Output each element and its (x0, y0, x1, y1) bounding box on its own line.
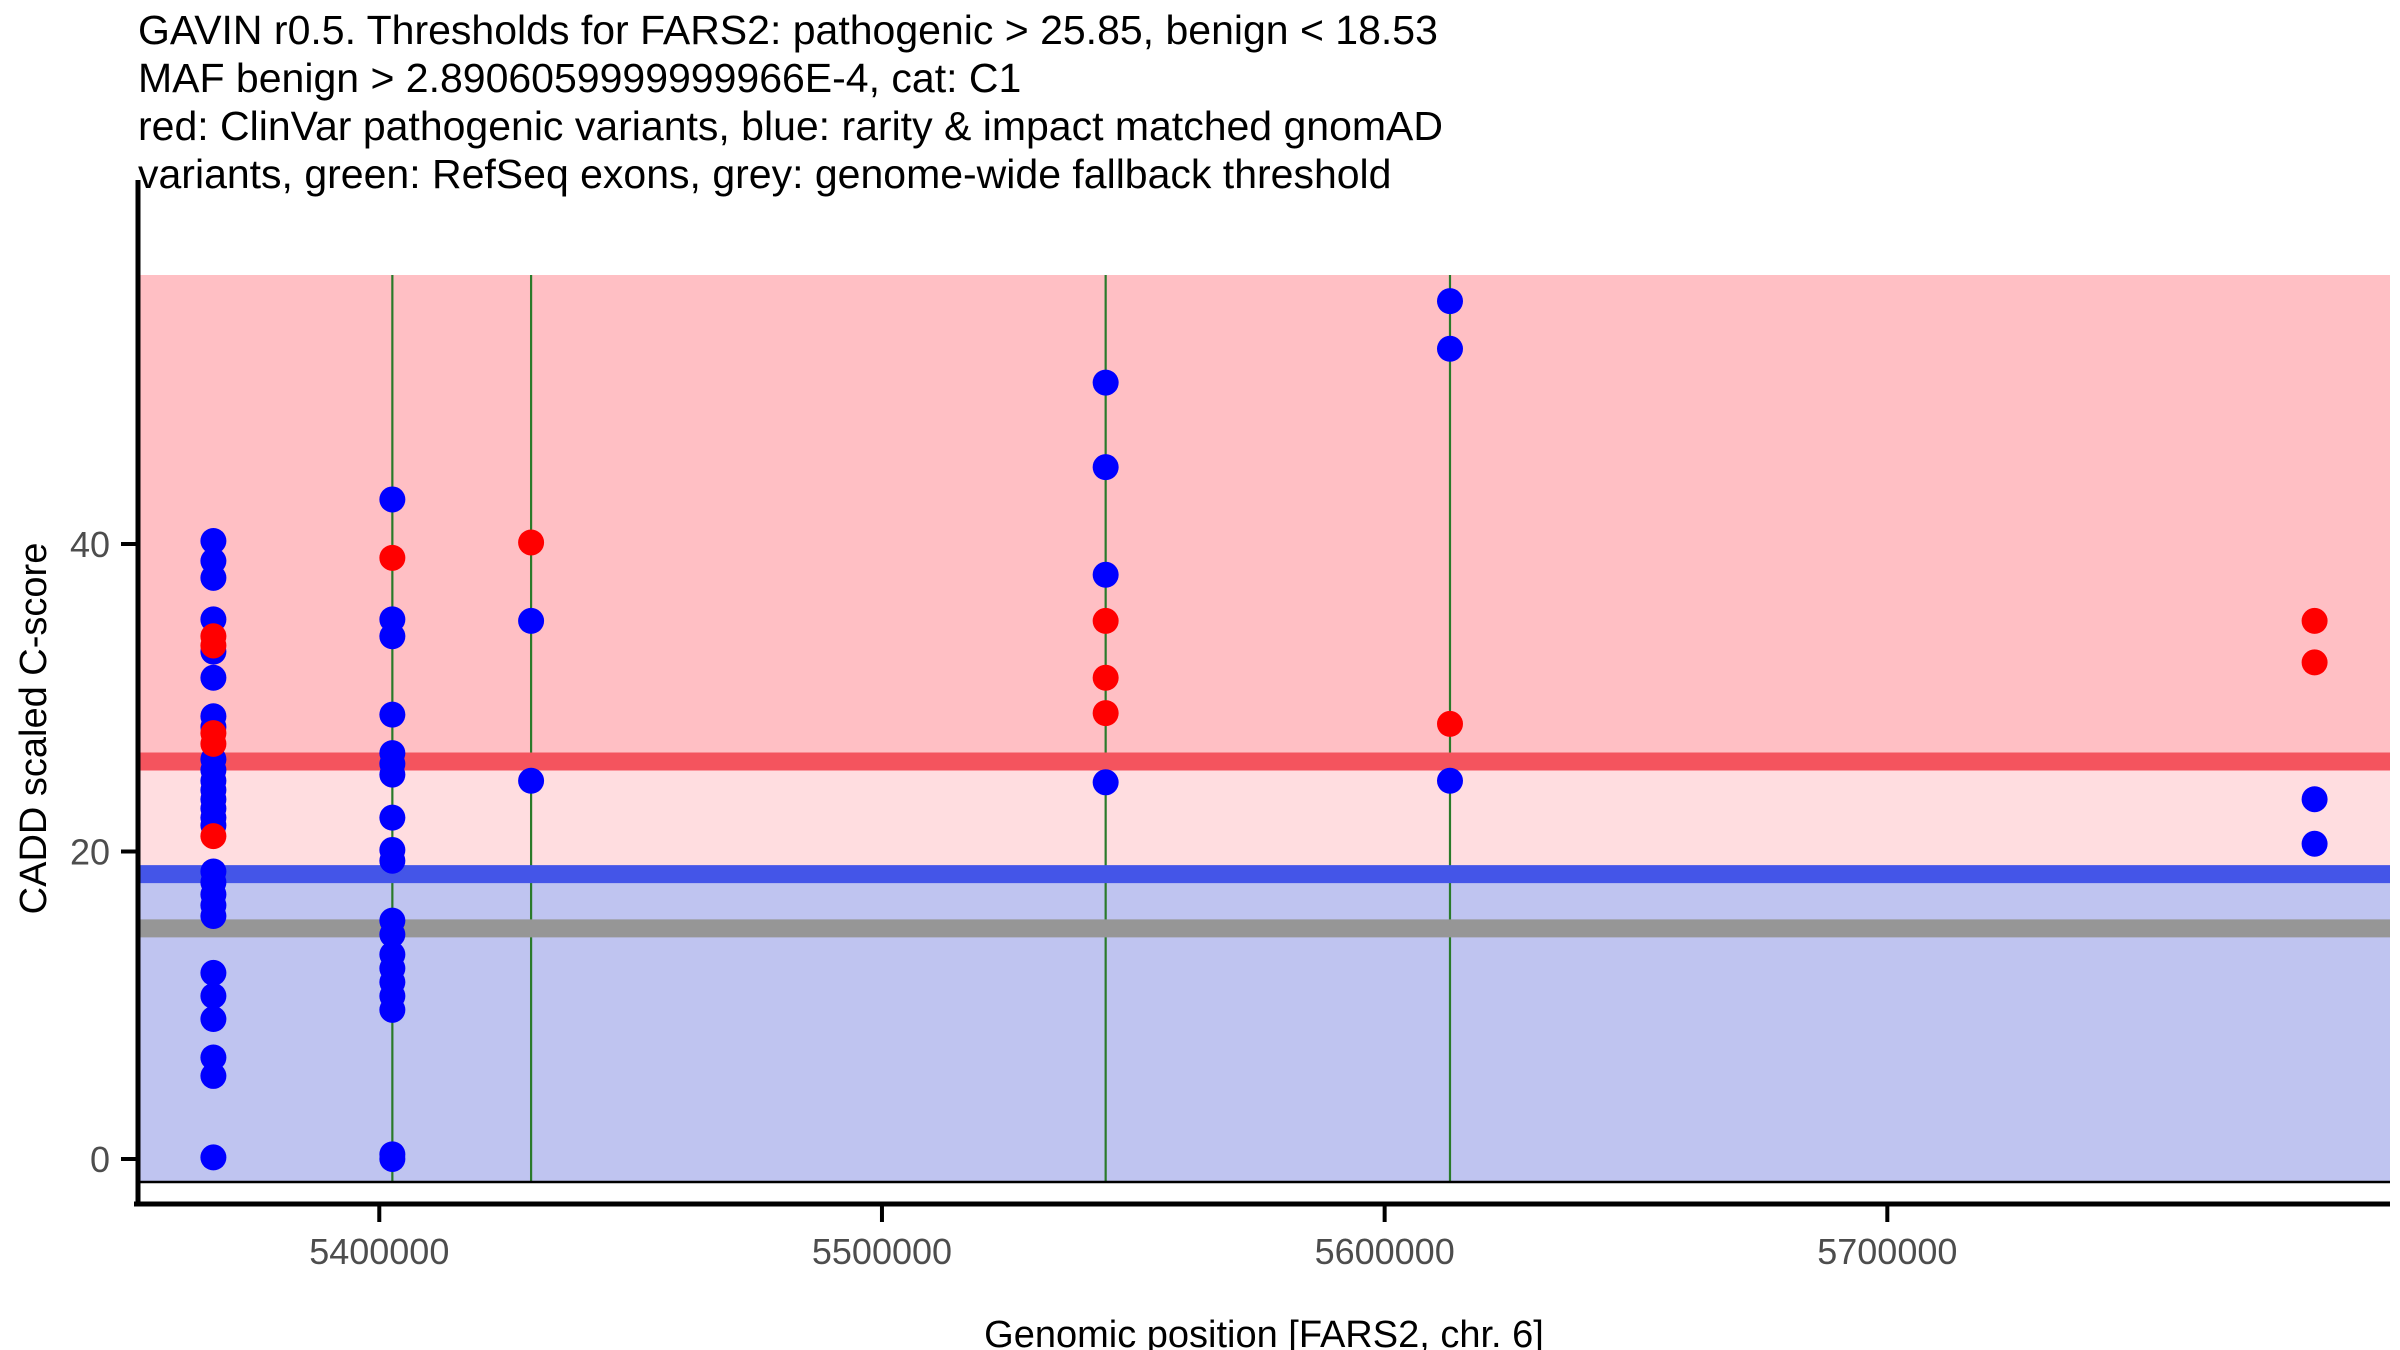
data-point (379, 486, 405, 512)
data-point (379, 1146, 405, 1172)
data-point (2302, 786, 2328, 812)
data-point (379, 623, 405, 649)
data-point (1437, 336, 1463, 362)
data-point (200, 632, 226, 658)
data-point (2302, 649, 2328, 675)
data-point (200, 823, 226, 849)
data-point (2302, 831, 2328, 857)
data-point (200, 960, 226, 986)
data-point (379, 805, 405, 831)
data-point (1093, 454, 1119, 480)
chart-root: GAVIN r0.5. Thresholds for FARS2: pathog… (0, 0, 2400, 1350)
scatter-plot: 020405400000550000056000005700000 CADD s… (0, 0, 2400, 1350)
y-tick-label: 0 (90, 1139, 110, 1180)
data-point (1093, 370, 1119, 396)
data-point (200, 983, 226, 1009)
x-tick-label: 5500000 (812, 1231, 952, 1272)
data-point (1437, 768, 1463, 794)
data-point (1093, 769, 1119, 795)
data-point (518, 608, 544, 634)
data-point (200, 731, 226, 757)
y-axis-title: CADD scaled C-score (13, 543, 55, 915)
data-point (379, 762, 405, 788)
data-point (1093, 700, 1119, 726)
data-point (518, 768, 544, 794)
data-point (2302, 608, 2328, 634)
y-tick-label: 40 (70, 524, 110, 565)
data-point (1437, 711, 1463, 737)
x-tick-label: 5400000 (309, 1231, 449, 1272)
data-point (379, 848, 405, 874)
data-point (1437, 288, 1463, 314)
data-point (200, 665, 226, 691)
data-point (200, 565, 226, 591)
data-point (518, 529, 544, 555)
data-point (379, 702, 405, 728)
data-point (200, 903, 226, 929)
data-point (1093, 562, 1119, 588)
data-point (379, 997, 405, 1023)
data-point (1093, 608, 1119, 634)
data-point (200, 1006, 226, 1032)
x-tick-label: 5600000 (1315, 1231, 1455, 1272)
band-ambiguous (138, 762, 2390, 875)
data-point (200, 1144, 226, 1170)
data-point (1093, 665, 1119, 691)
data-point (200, 1063, 226, 1089)
band-pathogenic (138, 275, 2390, 762)
threshold-bands (138, 275, 2390, 1182)
data-point (379, 545, 405, 571)
x-axis-title: Genomic position [FARS2, chr. 6] (984, 1314, 1544, 1350)
x-tick-label: 5700000 (1817, 1231, 1957, 1272)
y-tick-label: 20 (70, 831, 110, 872)
